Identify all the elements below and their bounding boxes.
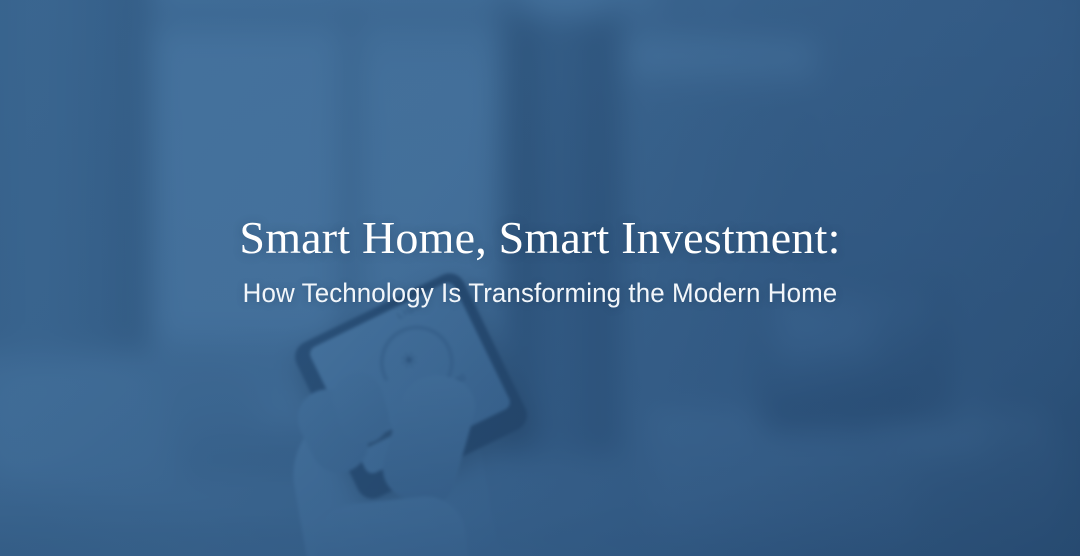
hero-banner: LIGHT ☀ 0 80 ☼ ☼ ☼ Connected Smart Home,… [0,0,1080,556]
hero-text-block: Smart Home, Smart Investment: How Techno… [0,214,1080,309]
page-title: Smart Home, Smart Investment: [0,214,1080,263]
page-subtitle: How Technology Is Transforming the Moder… [22,277,1059,309]
